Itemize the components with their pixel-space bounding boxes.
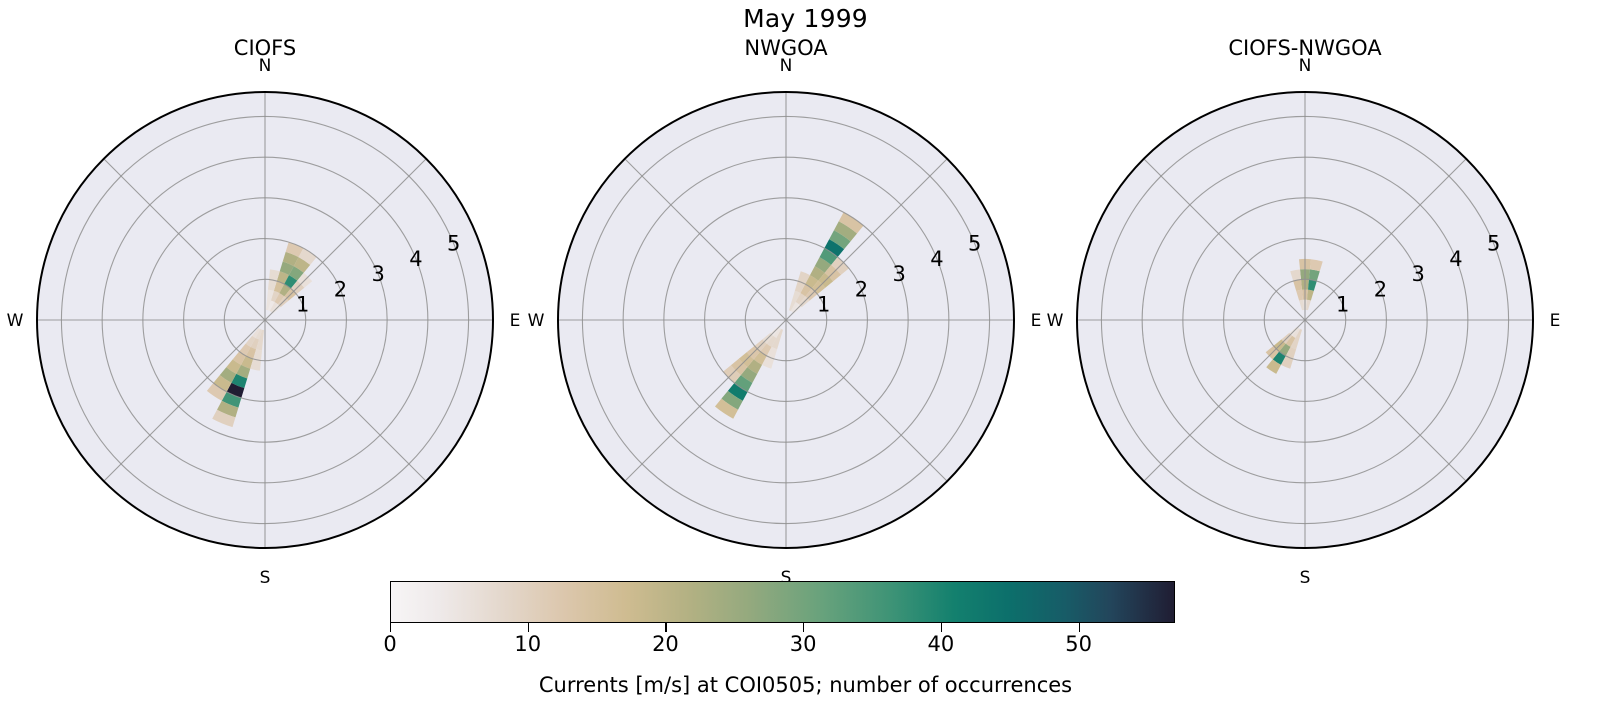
colorbar-tick-label: 0 xyxy=(383,632,396,656)
svg-text:1: 1 xyxy=(817,293,830,317)
colorbar-tick-labels: 01020304050 xyxy=(390,632,1175,656)
colorbar-axis-label: Currents [m/s] at COI0505; number of occ… xyxy=(0,673,1611,697)
colorbar-tick xyxy=(528,623,529,632)
polar-panel-nwgoa: NWGOA12345NSWE xyxy=(518,36,1055,576)
svg-text:3: 3 xyxy=(372,262,385,286)
figure-canvas: May 1999 CIOFS12345NSWENWGOA12345NSWECIO… xyxy=(0,0,1611,724)
colorbar-tick-label: 40 xyxy=(928,632,955,656)
colorbar-gradient xyxy=(390,581,1175,623)
colorbar-tick-label: 20 xyxy=(652,632,679,656)
polar-axes: 12345 xyxy=(1069,84,1541,556)
compass-label-w: W xyxy=(528,311,545,331)
svg-text:5: 5 xyxy=(968,232,981,256)
svg-text:1: 1 xyxy=(296,293,309,317)
colorbar-tick-label: 30 xyxy=(790,632,817,656)
svg-text:3: 3 xyxy=(1412,262,1425,286)
colorbar-tick xyxy=(665,623,666,632)
svg-text:2: 2 xyxy=(855,277,868,301)
colorbar-tick xyxy=(390,623,391,632)
colorbar: 01020304050 xyxy=(390,581,1175,623)
compass-label-e: E xyxy=(1550,311,1561,331)
figure-suptitle: May 1999 xyxy=(0,4,1611,33)
svg-text:2: 2 xyxy=(334,277,347,301)
polar-axes: 12345 xyxy=(550,84,1022,556)
compass-label-w: W xyxy=(1047,311,1064,331)
compass-label-s: S xyxy=(260,568,271,588)
polar-axes: 12345 xyxy=(29,84,501,556)
colorbar-tick-label: 50 xyxy=(1065,632,1092,656)
svg-text:4: 4 xyxy=(930,247,943,271)
svg-text:1: 1 xyxy=(1336,293,1349,317)
compass-label-n: N xyxy=(259,56,272,76)
svg-text:2: 2 xyxy=(1374,277,1387,301)
svg-text:4: 4 xyxy=(409,247,422,271)
polar-panel-ciofs-nwgoa: CIOFS-NWGOA12345NSWE xyxy=(1037,36,1574,576)
colorbar-tick xyxy=(1079,623,1080,632)
svg-text:5: 5 xyxy=(1487,232,1500,256)
svg-text:4: 4 xyxy=(1449,247,1462,271)
compass-label-n: N xyxy=(1299,56,1312,76)
colorbar-tick xyxy=(941,623,942,632)
polar-panel-ciofs: CIOFS12345NSWE xyxy=(0,36,534,576)
compass-label-s: S xyxy=(1300,568,1311,588)
compass-label-n: N xyxy=(780,56,793,76)
svg-text:3: 3 xyxy=(893,262,906,286)
colorbar-tick-label: 10 xyxy=(514,632,541,656)
colorbar-tick xyxy=(803,623,804,632)
compass-label-w: W xyxy=(7,311,24,331)
svg-text:5: 5 xyxy=(447,232,460,256)
